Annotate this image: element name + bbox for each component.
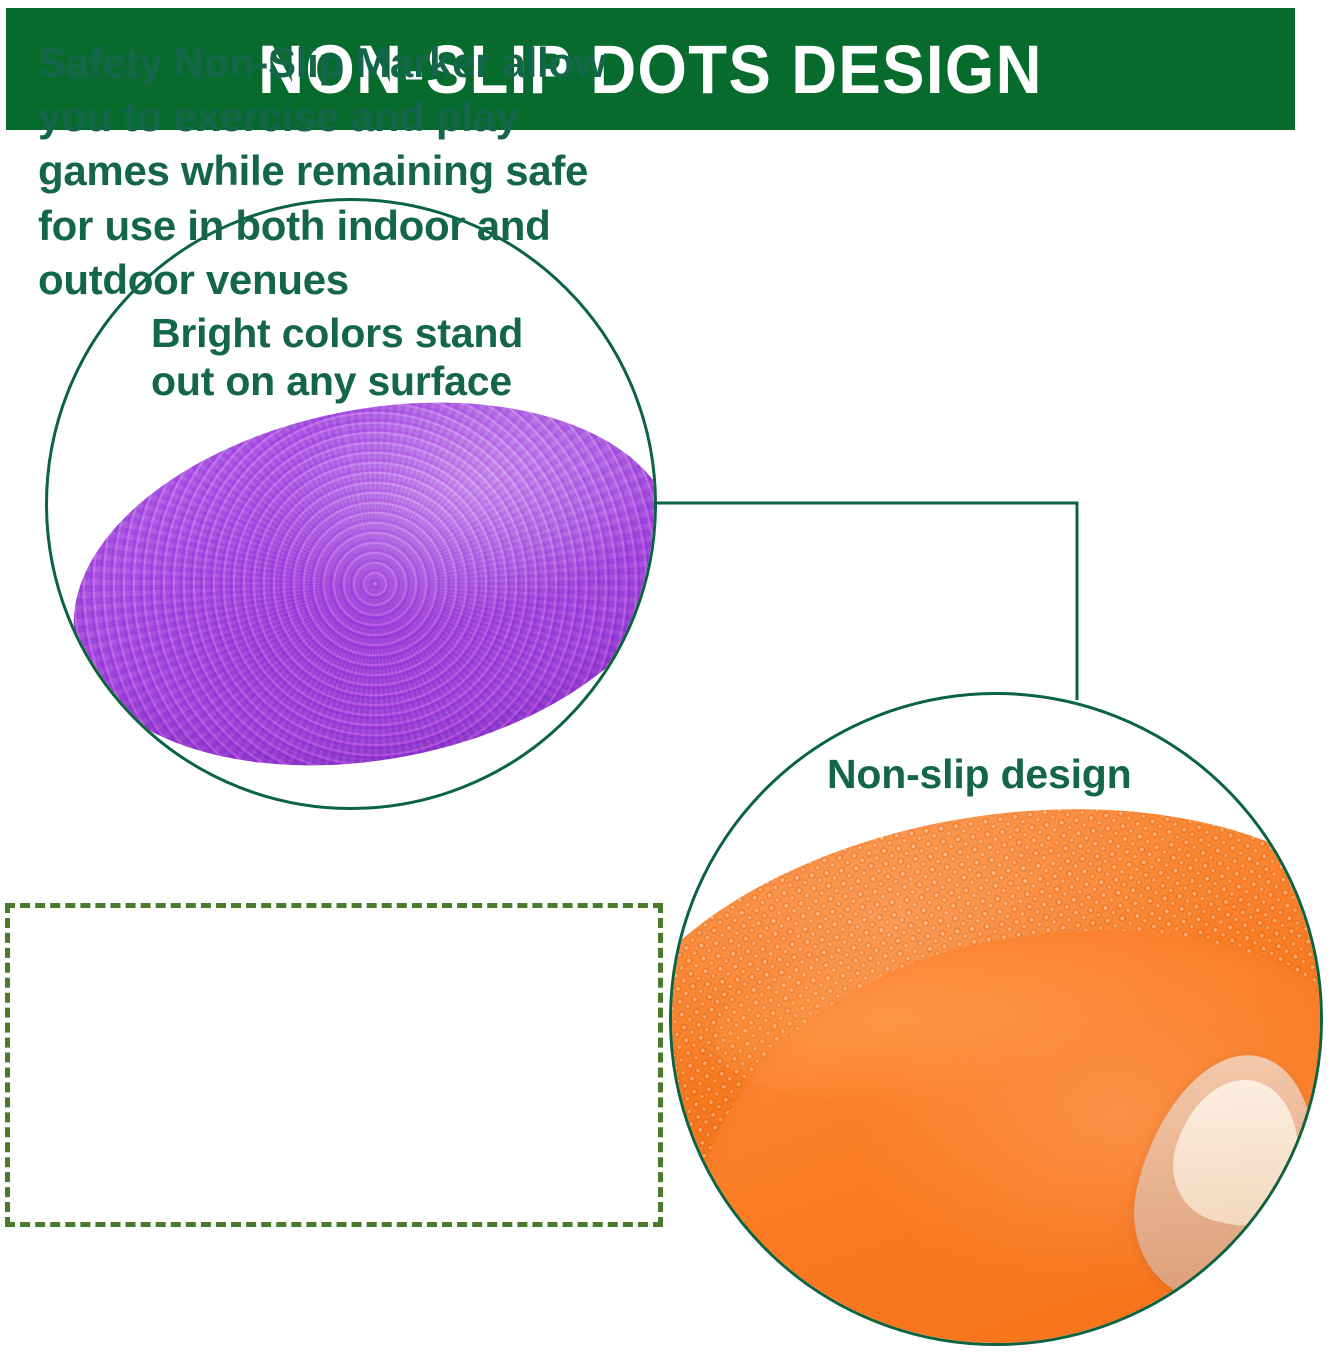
purple-disc-product-image [45, 354, 657, 810]
safety-info-box [5, 903, 663, 1227]
product-infographic: NON-SLIP DOTS DESIGN Bright colors stand… [0, 0, 1331, 1359]
connector-path [654, 503, 1077, 700]
callout-non-slip: Non-slip design [669, 692, 1323, 1346]
callout-label-non-slip: Non-slip design [827, 750, 1132, 798]
safety-info-text: Safety Non-Slip Marker allow you to exer… [38, 36, 628, 307]
callout-label-bright-colors: Bright colors stand out on any surface [151, 309, 523, 406]
callout-connector-line [640, 488, 1092, 714]
